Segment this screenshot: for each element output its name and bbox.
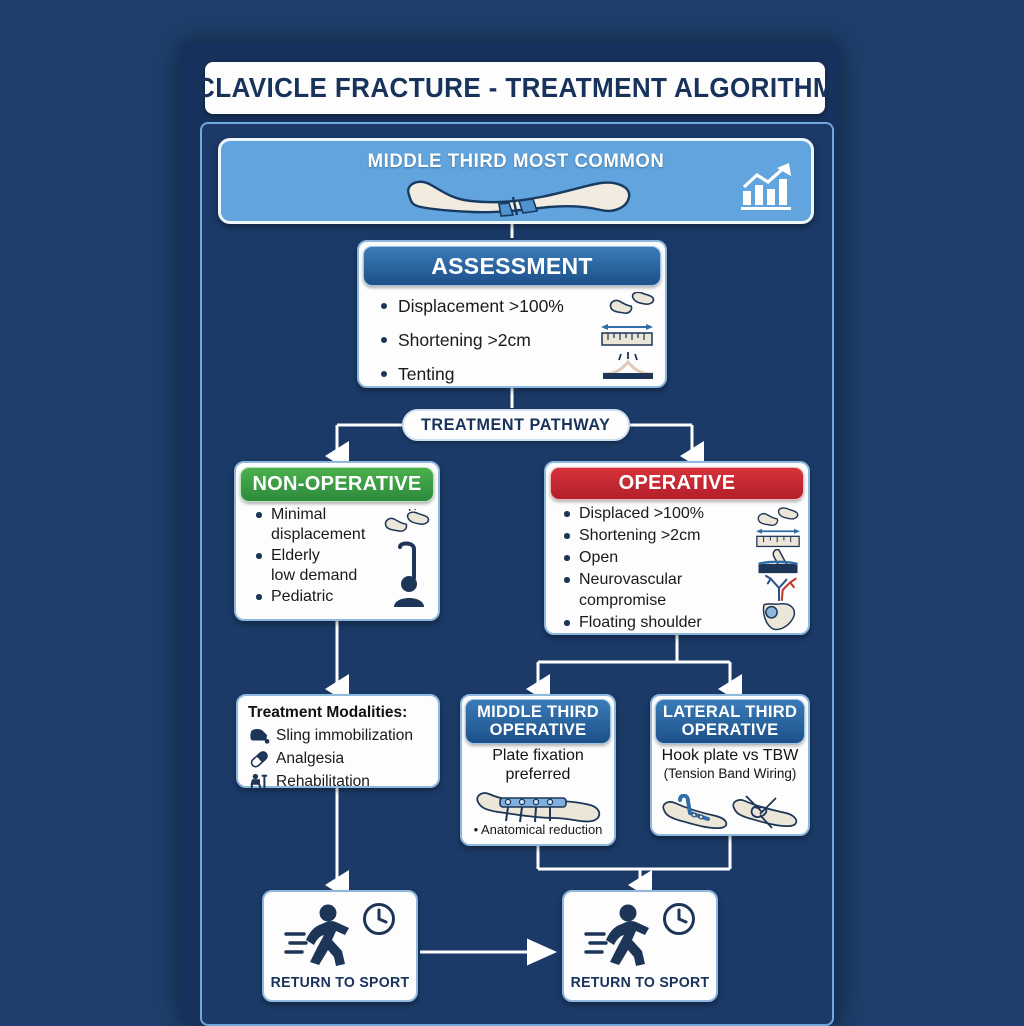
return-to-sport-box-operative: RETURN TO SPORT [562,890,718,1002]
rts-icons [264,902,416,968]
child-figure-icon [392,575,426,607]
modality-item: Sling immobilization [248,724,428,747]
skin-tenting-icon [601,352,655,380]
lateral-third-body: Hook plate vs TBW (Tension Band Wiring) [652,746,808,782]
non-operative-box: NON-OPERATIVE Minimal displacement Elder… [234,461,440,621]
item-line2: low demand [271,567,357,584]
ruler-measure-icon [754,527,802,549]
middle-third-line2: preferred [462,765,614,784]
rts-label: RETURN TO SPORT [569,974,712,991]
modality-label: Rehabilitation [276,773,370,791]
nerve-vessel-icon [758,575,800,601]
operative-header: OPERATIVE [550,467,804,500]
treatment-pathway-pill: TREATMENT PATHWAY [402,409,630,441]
page-title: CLAVICLE FRACTURE - TREATMENT ALGORITHM [205,62,825,114]
item-line2: displacement [271,526,365,543]
treatment-pathway-label: TREATMENT PATHWAY [421,415,610,435]
modality-label: Analgesia [276,750,344,768]
ruler-measure-icon [599,322,655,348]
plate-fixation-bone-icon [474,788,606,826]
infographic-root: CLAVICLE FRACTURE - TREATMENT ALGORITHM [0,0,1024,1024]
clock-icon [362,902,396,936]
middle-third-header: MIDDLE THIRD OPERATIVE [465,699,611,744]
return-to-sport-box-nonoperative: RETURN TO SPORT [262,890,418,1002]
modalities-header: Treatment Modalities: [248,704,428,722]
arm-sling-icon [248,727,270,745]
rts-icons [564,902,716,968]
shoulder-joint-icon [758,601,800,631]
modality-item: Rehabilitation [248,770,428,793]
hook-plate-bone-icon [660,794,732,830]
modality-label: Sling immobilization [276,727,413,745]
modality-item: Analgesia [248,747,428,770]
lateral-third-header: LATERAL THIRD OPERATIVE [655,699,805,744]
banner-label: MIDDLE THIRD MOST COMMON [236,150,797,173]
lateral-third-operative-box: LATERAL THIRD OPERATIVE Hook plate vs TB… [650,694,810,836]
middle-third-line1: Plate fixation [462,746,614,765]
tension-band-wiring-bone-icon [728,794,802,830]
page-title-text: CLAVICLE FRACTURE - TREATMENT ALGORITHM [196,72,835,104]
middle-third-body: Plate fixation preferred [462,746,614,784]
pill-capsule-icon [248,750,270,768]
running-figure-icon [584,902,656,968]
open-fracture-skin-icon [756,549,800,575]
item-line1: Elderly [271,547,320,564]
banner-middle-third: MIDDLE THIRD MOST COMMON [218,138,814,224]
non-operative-header: NON-OPERATIVE [240,467,434,502]
displaced-bone-fragments-icon [609,292,655,316]
item-line1: Pediatric [271,588,333,605]
lateral-third-line1: Hook plate vs TBW [652,746,808,765]
fractured-clavicle-bone-icon [401,175,637,219]
running-figure-icon [284,902,356,968]
assessment-box: ASSESSMENT Displacement >100% Shortening… [357,240,667,388]
item-line1: Minimal [271,506,326,523]
item-line1: Neurovascular [579,571,682,588]
rts-label: RETURN TO SPORT [269,974,412,991]
assessment-header: ASSESSMENT [363,246,661,286]
rehab-exercise-icon [248,773,270,791]
displaced-bone-fragments-icon [756,505,800,527]
operative-box: OPERATIVE Displaced >100% Shortening >2c… [544,461,810,635]
middle-third-bullet: • Anatomical reduction [462,822,614,837]
bar-chart-growth-icon [741,163,793,211]
clock-icon [662,902,696,936]
lateral-third-line2: (Tension Band Wiring) [652,765,808,782]
treatment-modalities-box: Treatment Modalities: Sling immobilizati… [236,694,440,788]
middle-third-operative-box: MIDDLE THIRD OPERATIVE Plate fixation pr… [460,694,616,846]
flow-container: MIDDLE THIRD MOST COMMON [200,122,834,1026]
minimal-displacement-bone-icon [384,509,430,533]
item-line2: compromise [579,592,666,609]
